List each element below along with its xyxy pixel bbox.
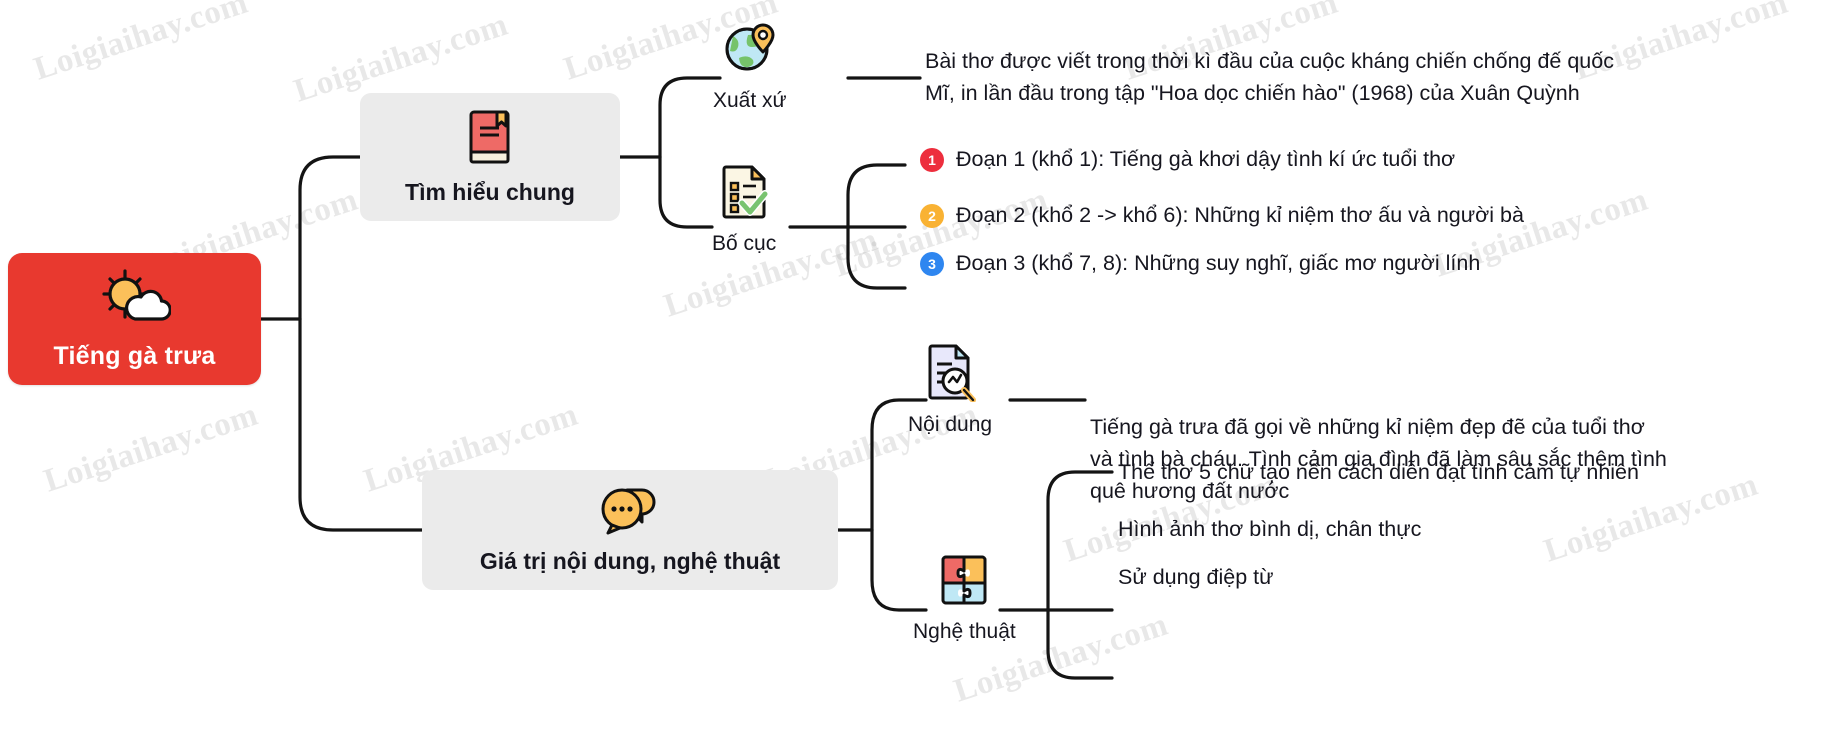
root-node-label: Tiếng gà trưa (54, 342, 216, 371)
sub-node-nghe-thuat[interactable]: Nghệ thuật (913, 553, 1016, 644)
sub-node-label: Bố cục (712, 232, 776, 256)
document-search-icon (922, 342, 978, 407)
watermark: Loigiaihay.com (30, 0, 253, 88)
badge-number: 1 (920, 148, 944, 172)
leaf-text-nghe-thuat: Thể thơ 5 chữ tạo nên cách diễn đạt tình… (1118, 460, 1639, 485)
branch-node-gia-tri[interactable]: Giá trị nội dung, nghệ thuật (422, 470, 838, 590)
sub-node-label: Nội dung (908, 413, 992, 437)
numbered-leaf: 2 Đoạn 2 (khổ 2 -> khổ 6): Những kỉ niệm… (920, 203, 1524, 228)
numbered-leaf-text: Đoạn 2 (khổ 2 -> khổ 6): Những kỉ niệm t… (956, 203, 1524, 228)
badge-number: 2 (920, 204, 944, 228)
leaf-text-line: Tiếng gà trưa đã gọi về những kỉ niệm đẹ… (1090, 411, 1810, 443)
checklist-check-icon (716, 163, 772, 226)
numbered-leaf-text: Đoạn 3 (khổ 7, 8): Những suy nghĩ, giấc … (956, 251, 1480, 276)
sun-cloud-icon (99, 267, 171, 332)
branch-label: Tìm hiểu chung (405, 179, 575, 206)
sub-node-bo-cuc[interactable]: Bố cục (712, 163, 776, 256)
numbered-leaf-text: Đoạn 1 (khổ 1): Tiếng gà khơi dậy tình k… (956, 147, 1455, 172)
globe-pin-icon (721, 22, 779, 83)
root-node[interactable]: Tiếng gà trưa (8, 253, 261, 385)
sub-node-xuat-xu[interactable]: Xuất xứ (713, 22, 787, 113)
branch-node-tim-hieu-chung[interactable]: Tìm hiểu chung (360, 93, 620, 221)
leaf-text-nghe-thuat: Sử dụng điệp từ (1118, 565, 1274, 590)
leaf-text-xuat-xu: Bài thơ được viết trong thời kì đầu của … (925, 45, 1815, 109)
sub-node-label: Xuất xứ (713, 89, 787, 113)
leaf-text-nghe-thuat: Hình ảnh thơ bình dị, chân thực (1118, 517, 1421, 542)
speech-bubbles-icon (598, 485, 662, 540)
badge-number: 3 (920, 252, 944, 276)
leaf-text-noi-dung: Tiếng gà trưa đã gọi về những kỉ niệm đẹ… (1090, 411, 1810, 507)
numbered-leaf: 1 Đoạn 1 (khổ 1): Tiếng gà khơi dậy tình… (920, 147, 1455, 172)
puzzle-icon (938, 553, 990, 614)
red-book-icon (464, 108, 516, 171)
sub-node-label: Nghệ thuật (913, 620, 1016, 644)
leaf-text-line: Bài thơ được viết trong thời kì đầu của … (925, 45, 1815, 77)
branch-label: Giá trị nội dung, nghệ thuật (480, 548, 780, 575)
sub-node-noi-dung[interactable]: Nội dung (908, 342, 992, 437)
leaf-text-line: Mĩ, in lần đầu trong tập "Hoa dọc chiến … (925, 77, 1815, 109)
numbered-leaf: 3 Đoạn 3 (khổ 7, 8): Những suy nghĩ, giấ… (920, 251, 1480, 276)
watermark: Loigiaihay.com (40, 397, 263, 501)
mindmap-canvas: Loigiaihay.com Loigiaihay.com Loigiaihay… (0, 0, 1825, 729)
